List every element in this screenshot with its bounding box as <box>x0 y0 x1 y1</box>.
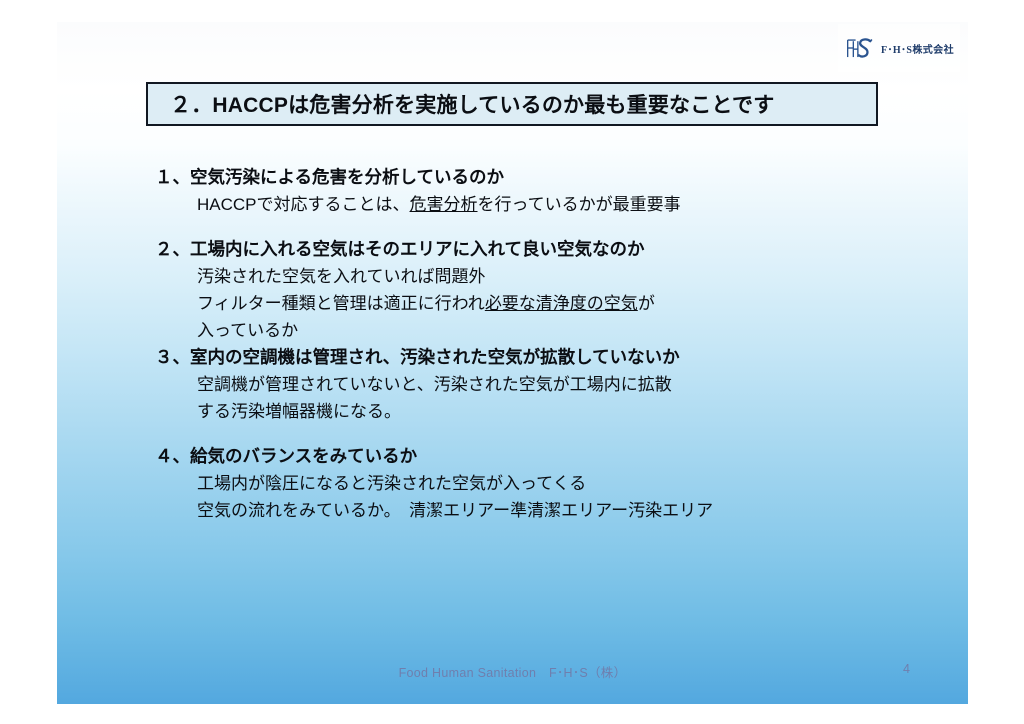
block-subline: 入っているか <box>155 317 955 344</box>
company-logo: F･H･S株式会社 <box>838 24 960 72</box>
subline-text: HACCPで対応することは、 <box>197 195 410 214</box>
subline-text: する汚染増幅器機になる。 <box>197 402 401 421</box>
block-subline: HACCPで対応することは、危害分析を行っているかが最重要事 <box>155 191 955 218</box>
block-heading: ４、給気のバランスをみているか <box>155 443 955 470</box>
slide-title-box: ２．HACCPは危害分析を実施しているのか最も重要なことです <box>146 82 878 126</box>
block-number: ２、 <box>155 239 190 259</box>
block-number: １、 <box>155 167 190 187</box>
block-heading: ３、室内の空調機は管理され、汚染された空気が拡散していないか <box>155 344 955 371</box>
subline-text: 空調機が管理されていないと、汚染された空気が工場内に拡散 <box>197 375 672 394</box>
body-block: ３、室内の空調機は管理され、汚染された空気が拡散していないか空調機が管理されてい… <box>155 344 955 425</box>
fhs-monogram-icon <box>842 34 876 62</box>
block-subline: 工場内が陰圧になると汚染された空気が入ってくる <box>155 470 955 497</box>
block-heading-text: 室内の空調機は管理され、汚染された空気が拡散していないか <box>190 347 680 367</box>
body-block: ４、給気のバランスをみているか工場内が陰圧になると汚染された空気が入ってくる空気… <box>155 443 955 524</box>
body-block: １、空気汚染による危害を分析しているのかHACCPで対応することは、危害分析を行… <box>155 164 955 218</box>
subline-text: 空気の流れをみているか。 清潔エリアー準清潔エリアー汚染エリア <box>197 501 713 520</box>
block-number: ３、 <box>155 347 190 367</box>
block-heading-text: 給気のバランスをみているか <box>190 446 417 466</box>
block-subline: 空調機が管理されていないと、汚染された空気が工場内に拡散 <box>155 371 955 398</box>
subline-text: を行っているかが最重要事 <box>478 195 681 214</box>
block-subline: 汚染された空気を入れていれば問題外 <box>155 263 955 290</box>
block-heading: ２、工場内に入れる空気はそのエリアに入れて良い空気なのか <box>155 236 955 263</box>
block-heading-text: 工場内に入れる空気はそのエリアに入れて良い空気なのか <box>190 239 644 259</box>
subline-emphasis: 必要な清浄度の空気 <box>485 294 638 313</box>
block-subline: 空気の流れをみているか。 清潔エリアー準清潔エリアー汚染エリア <box>155 497 955 524</box>
page-number: 4 <box>903 662 910 676</box>
subline-text: 工場内が陰圧になると汚染された空気が入ってくる <box>197 474 586 493</box>
body-block: ２、工場内に入れる空気はそのエリアに入れて良い空気なのか汚染された空気を入れてい… <box>155 236 955 344</box>
slide-body: １、空気汚染による危害を分析しているのかHACCPで対応することは、危害分析を行… <box>155 164 955 524</box>
block-number: ４、 <box>155 446 190 466</box>
footer-text: Food Human Sanitation F･H･S（株） <box>57 662 968 681</box>
subline-text: が <box>638 294 655 313</box>
subline-text: 入っているか <box>197 321 298 340</box>
block-heading: １、空気汚染による危害を分析しているのか <box>155 164 955 191</box>
slide-canvas: F･H･S株式会社 ２．HACCPは危害分析を実施しているのか最も重要なことです… <box>57 22 968 704</box>
block-subline: する汚染増幅器機になる。 <box>155 398 955 425</box>
subline-text: フィルター種類と管理は適正に行われ <box>197 294 485 313</box>
block-heading-text: 空気汚染による危害を分析しているのか <box>190 167 504 187</box>
page-title: ２．HACCPは危害分析を実施しているのか最も重要なことです <box>170 89 774 119</box>
block-subline: フィルター種類と管理は適正に行われ必要な清浄度の空気が <box>155 290 955 317</box>
subline-emphasis: 危害分析 <box>410 195 478 214</box>
slide-footer: Food Human Sanitation F･H･S（株） 4 <box>57 650 968 704</box>
logo-company-name: F･H･S株式会社 <box>881 41 954 56</box>
subline-text: 汚染された空気を入れていれば問題外 <box>197 267 486 286</box>
